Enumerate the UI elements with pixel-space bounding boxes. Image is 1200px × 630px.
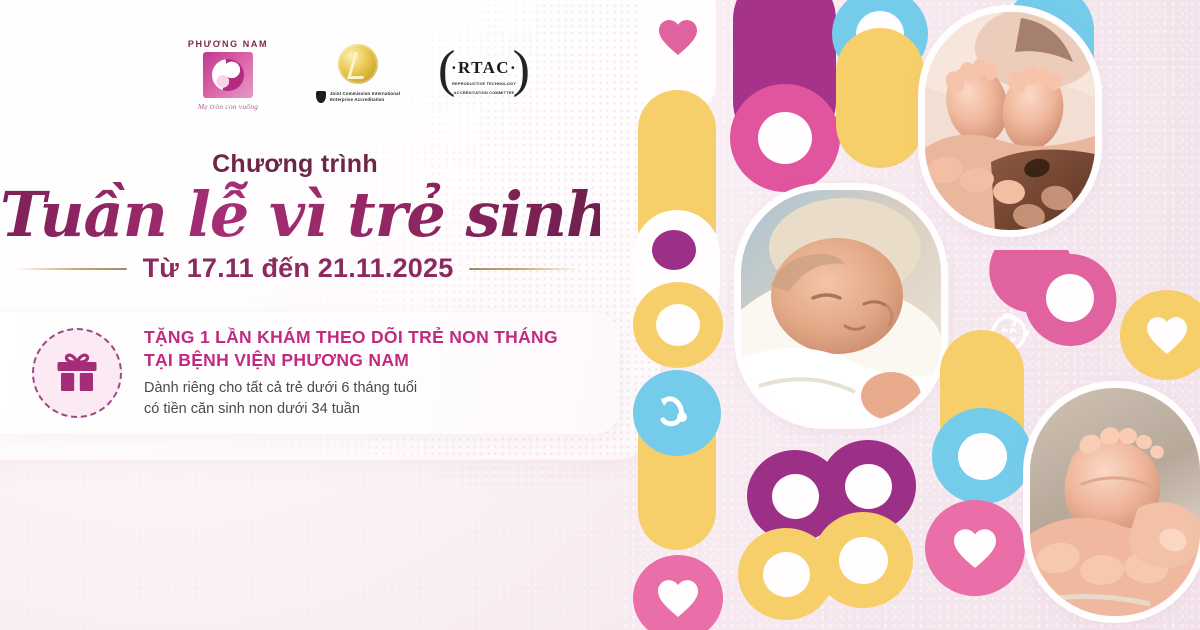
yin-yang-icon: [212, 59, 244, 91]
ring-blue-2: [932, 408, 1032, 504]
photo-sleeping-newborn: [741, 190, 941, 422]
ring-hole: [763, 552, 810, 597]
rtac-inner: ·RTAC· REPRODUCTIVE TECHNOLOGY ACCREDITA…: [436, 58, 532, 96]
circle-blue-mother-baby: [633, 370, 721, 456]
ring-hole: [758, 112, 812, 164]
circle-yellow-heart: [1120, 290, 1200, 380]
jci-caption: Joint Commission International Enterpris…: [330, 91, 400, 104]
photo-image: [741, 190, 941, 422]
photo-baby-feet-in-hands: [925, 12, 1095, 230]
rtac-caption-line1: REPRODUCTIVE TECHNOLOGY: [436, 81, 532, 87]
headline-title: Tuần lễ vì trẻ sinh non: [0, 178, 600, 251]
heart-icon: [655, 578, 701, 618]
campaign-date: Từ 17.11 đến 21.11.2025: [143, 253, 454, 284]
offer-headline-1: TẶNG 1 LẦN KHÁM THEO DÕI TRẺ NON THÁNG: [144, 326, 558, 350]
ring-hole: [958, 433, 1007, 480]
rtac-caption-line2: ACCREDITATION COMMITTEE: [436, 90, 532, 96]
offer-detail-2: có tiền căn sinh non dưới 34 tuần: [144, 399, 558, 420]
ring-hole: [772, 474, 819, 519]
promo-banner: PHƯƠNG NAM Mẹ tròn con vuông Joint Commi…: [0, 0, 1200, 630]
photo-foot-held-by-hand: [1030, 388, 1200, 616]
rtac-wordmark: ·RTAC·: [436, 58, 532, 78]
gift-badge: [32, 328, 122, 418]
logo-phuong-nam: PHƯƠNG NAM Mẹ tròn con vuông: [176, 40, 280, 111]
gold-seal-icon: [338, 44, 378, 84]
mother-and-baby-icon: [655, 393, 699, 433]
ring-yellow-3: [813, 512, 913, 608]
photo-shape-collage: [620, 0, 1200, 630]
offer-card: TẶNG 1 LẦN KHÁM THEO DÕI TRẺ NON THÁNG T…: [0, 312, 620, 434]
heart-icon: [951, 527, 999, 569]
rule-left: [15, 268, 127, 270]
phuong-nam-tagline: Mẹ tròn con vuông: [198, 102, 258, 111]
ring-pink-1: [730, 84, 840, 192]
headline-kicker: Chương trình: [0, 150, 590, 179]
phuong-nam-wordmark: PHƯƠNG NAM: [188, 40, 268, 49]
offer-detail-1: Dành riêng cho tất cả trẻ dưới 6 tháng t…: [144, 378, 558, 399]
rule-right: [469, 268, 581, 270]
jci-caption-row: Joint Commission International Enterpris…: [316, 91, 400, 104]
logo-row: PHƯƠNG NAM Mẹ tròn con vuông Joint Commi…: [176, 40, 532, 111]
pill-yellow-col3: [836, 28, 924, 168]
jci-caption-line2: Enterprise Accreditation: [330, 97, 400, 103]
logo-jci: Joint Commission International Enterpris…: [310, 44, 406, 104]
heart-icon: [657, 18, 699, 56]
ring-pink-heart-2: [925, 500, 1025, 596]
ring-hole: [656, 304, 700, 346]
logo-rtac: ( ) ·RTAC· REPRODUCTIVE TECHNOLOGY ACCRE…: [436, 42, 532, 104]
offer-text-block: TẶNG 1 LẦN KHÁM THEO DÕI TRẺ NON THÁNG T…: [144, 326, 558, 420]
dot-purple: [652, 230, 696, 270]
ring-hole: [839, 537, 888, 584]
ring-yellow-1: [633, 282, 723, 368]
phuong-nam-mark-icon: [203, 52, 253, 98]
heart-icon: [1144, 315, 1190, 355]
photo-image: [1030, 388, 1200, 616]
photo-image: [925, 12, 1095, 230]
offer-headline-2: TẠI BỆNH VIỆN PHƯƠNG NAM: [144, 349, 558, 373]
ring-hole: [845, 464, 892, 509]
gift-box-icon: [54, 352, 100, 394]
shield-icon: [316, 91, 326, 103]
date-row: Từ 17.11 đến 21.11.2025: [0, 253, 596, 284]
ring-pink-heart: [633, 555, 723, 630]
